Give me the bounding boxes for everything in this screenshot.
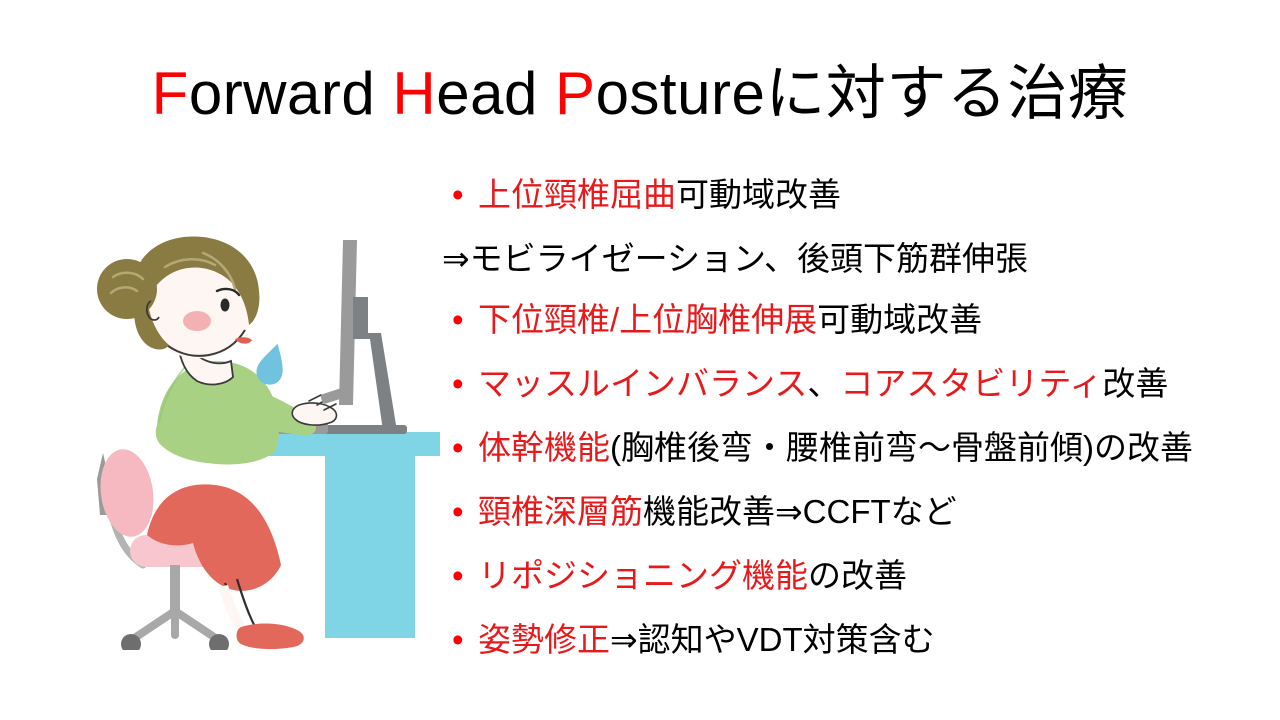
title-segment-6: ostureに対する治療 (596, 60, 1129, 127)
title-segment-3: H (392, 60, 436, 127)
bullet-text-red: リポジショニング機能 (478, 557, 808, 594)
bullet-text-black: の改善 (808, 557, 907, 594)
list-item-subline: ⇒モビライゼーション、後頭下筋群伸張 (442, 242, 1280, 275)
bullet-text-red-2: コアスタビリティ (840, 365, 1102, 402)
bullet-marker: • (452, 559, 478, 592)
bullet-marker: • (452, 623, 478, 656)
bullet-marker: • (452, 178, 478, 211)
bullet-text-red: 体幹機能 (478, 429, 610, 466)
title-segment-4: ead (436, 60, 555, 127)
hand (292, 388, 346, 426)
woman-at-desk-illustration (85, 235, 440, 650)
page-title: Forward Head Postureに対する治療 (0, 62, 1280, 125)
title-segment-1: F (152, 60, 189, 127)
bullet-text-black: 改善 (1102, 365, 1168, 402)
bullet-list: •上位頸椎屈曲可動域改善 ⇒モビライゼーション、後頭下筋群伸張 •下位頸椎/上位… (452, 178, 1280, 687)
bullet-text-black: 機能改善⇒CCFTなど (643, 493, 957, 530)
list-item: •マッスルインバランス、コアスタビリティ改善 (452, 367, 1280, 400)
list-item: •体幹機能(胸椎後弯・腰椎前弯〜骨盤前傾)の改善 (452, 431, 1280, 464)
bullet-text-black: ⇒認知やVDT対策含む (610, 621, 935, 658)
bullet-text-red: 下位頸椎/上位胸椎伸展 (478, 301, 817, 338)
list-item: •下位頸椎/上位胸椎伸展可動域改善 (452, 303, 1280, 336)
bullet-text-red: 頸椎深層筋 (478, 493, 643, 530)
eye (221, 299, 230, 312)
bullet-marker: • (452, 431, 478, 464)
head (97, 236, 259, 358)
bullet-text-separator: 、 (807, 365, 840, 402)
list-item: •頸椎深層筋機能改善⇒CCFTなど (452, 495, 1280, 528)
bullet-text-black: 可動域改善 (817, 301, 982, 338)
bullet-marker: • (452, 303, 478, 336)
cheek-blush (183, 311, 211, 331)
bullet-text-black: 可動域改善 (676, 176, 841, 213)
list-item: •上位頸椎屈曲可動域改善 (452, 178, 1280, 211)
bullet-marker: • (452, 495, 478, 528)
list-item: •リポジショニング機能の改善 (452, 559, 1280, 592)
slide-canvas: Forward Head Postureに対する治療 (0, 0, 1280, 720)
list-item: •姿勢修正⇒認知やVDT対策含む (452, 623, 1280, 656)
bullet-text-black: (胸椎後弯・腰椎前弯〜骨盤前傾)の改善 (610, 429, 1193, 466)
bullet-text-red: 姿勢修正 (478, 621, 610, 658)
title-segment-2: orward (189, 60, 393, 127)
bullet-marker: • (452, 367, 478, 400)
subline-text: ⇒モビライゼーション、後頭下筋群伸張 (442, 240, 1028, 277)
bullet-text-red: 上位頸椎屈曲 (478, 176, 676, 213)
bullet-text-red: マッスルインバランス (478, 365, 807, 402)
mouth (235, 337, 252, 343)
title-segment-5: P (555, 60, 596, 127)
